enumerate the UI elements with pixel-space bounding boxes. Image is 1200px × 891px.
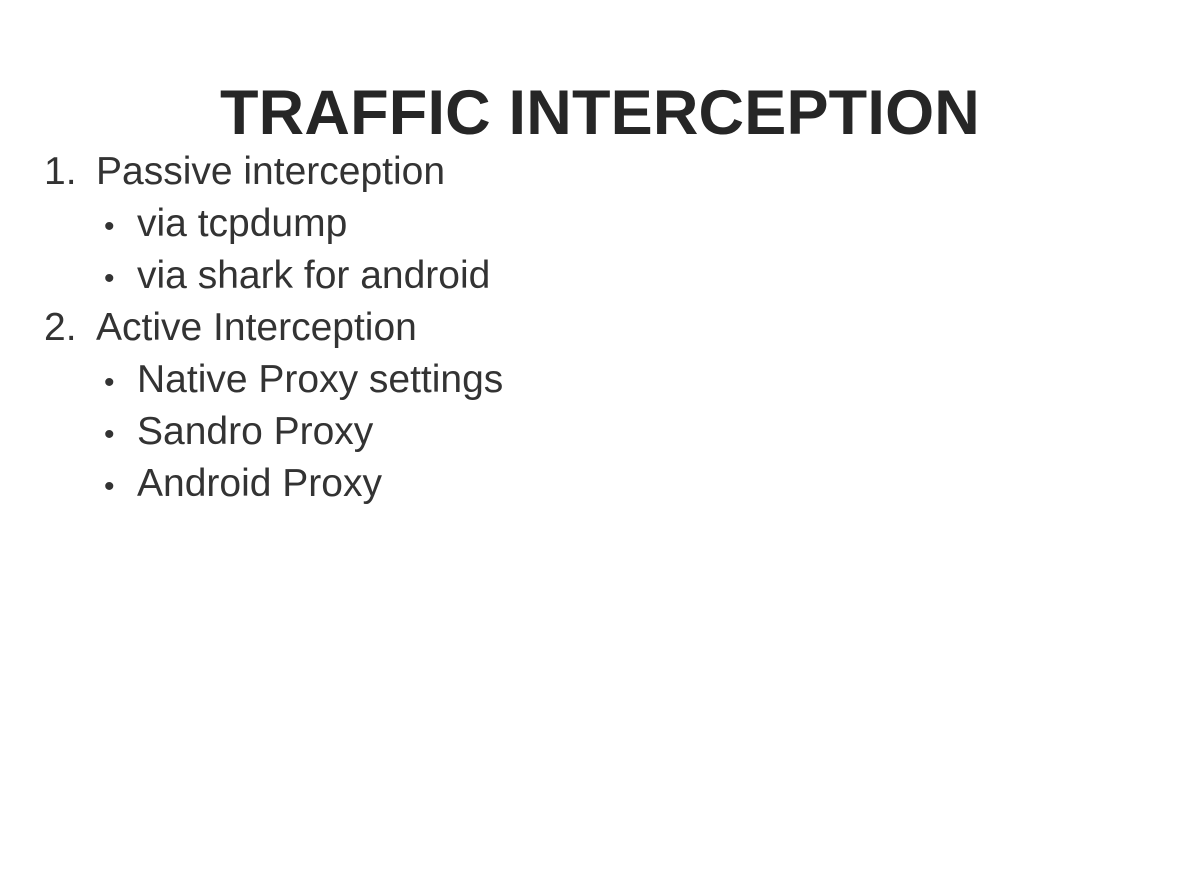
outline-list: 1. Passive interception • via tcpdump • …	[0, 146, 1200, 510]
list-item-numbered: 1. Passive interception	[0, 146, 1200, 198]
list-number-marker: 2.	[44, 302, 96, 354]
page-title: TRAFFIC INTERCEPTION	[0, 80, 1200, 147]
list-item-label: Passive interception	[96, 146, 445, 198]
bullet-icon: •	[104, 253, 137, 305]
bullet-icon: •	[104, 201, 137, 253]
list-item-bulleted: • Sandro Proxy	[0, 406, 1200, 458]
list-item-label: via tcpdump	[137, 198, 347, 250]
bullet-icon: •	[104, 357, 137, 409]
list-item-bulleted: • Android Proxy	[0, 458, 1200, 510]
list-item-numbered: 2. Active Interception	[0, 302, 1200, 354]
slide-canvas: TRAFFIC INTERCEPTION 1. Passive intercep…	[0, 0, 1200, 891]
bullet-icon: •	[104, 461, 137, 513]
bullet-icon: •	[104, 409, 137, 461]
list-item-label: Android Proxy	[137, 458, 382, 510]
list-number-marker: 1.	[44, 146, 96, 198]
list-item-label: Native Proxy settings	[137, 354, 503, 406]
list-item-label: via shark for android	[137, 250, 490, 302]
list-item-bulleted: • via shark for android	[0, 250, 1200, 302]
outline-group: 1. Passive interception • via tcpdump • …	[0, 146, 1200, 302]
list-item-bulleted: • via tcpdump	[0, 198, 1200, 250]
outline-group: 2. Active Interception • Native Proxy se…	[0, 302, 1200, 510]
list-item-label: Active Interception	[96, 302, 417, 354]
list-item-label: Sandro Proxy	[137, 406, 373, 458]
list-item-bulleted: • Native Proxy settings	[0, 354, 1200, 406]
